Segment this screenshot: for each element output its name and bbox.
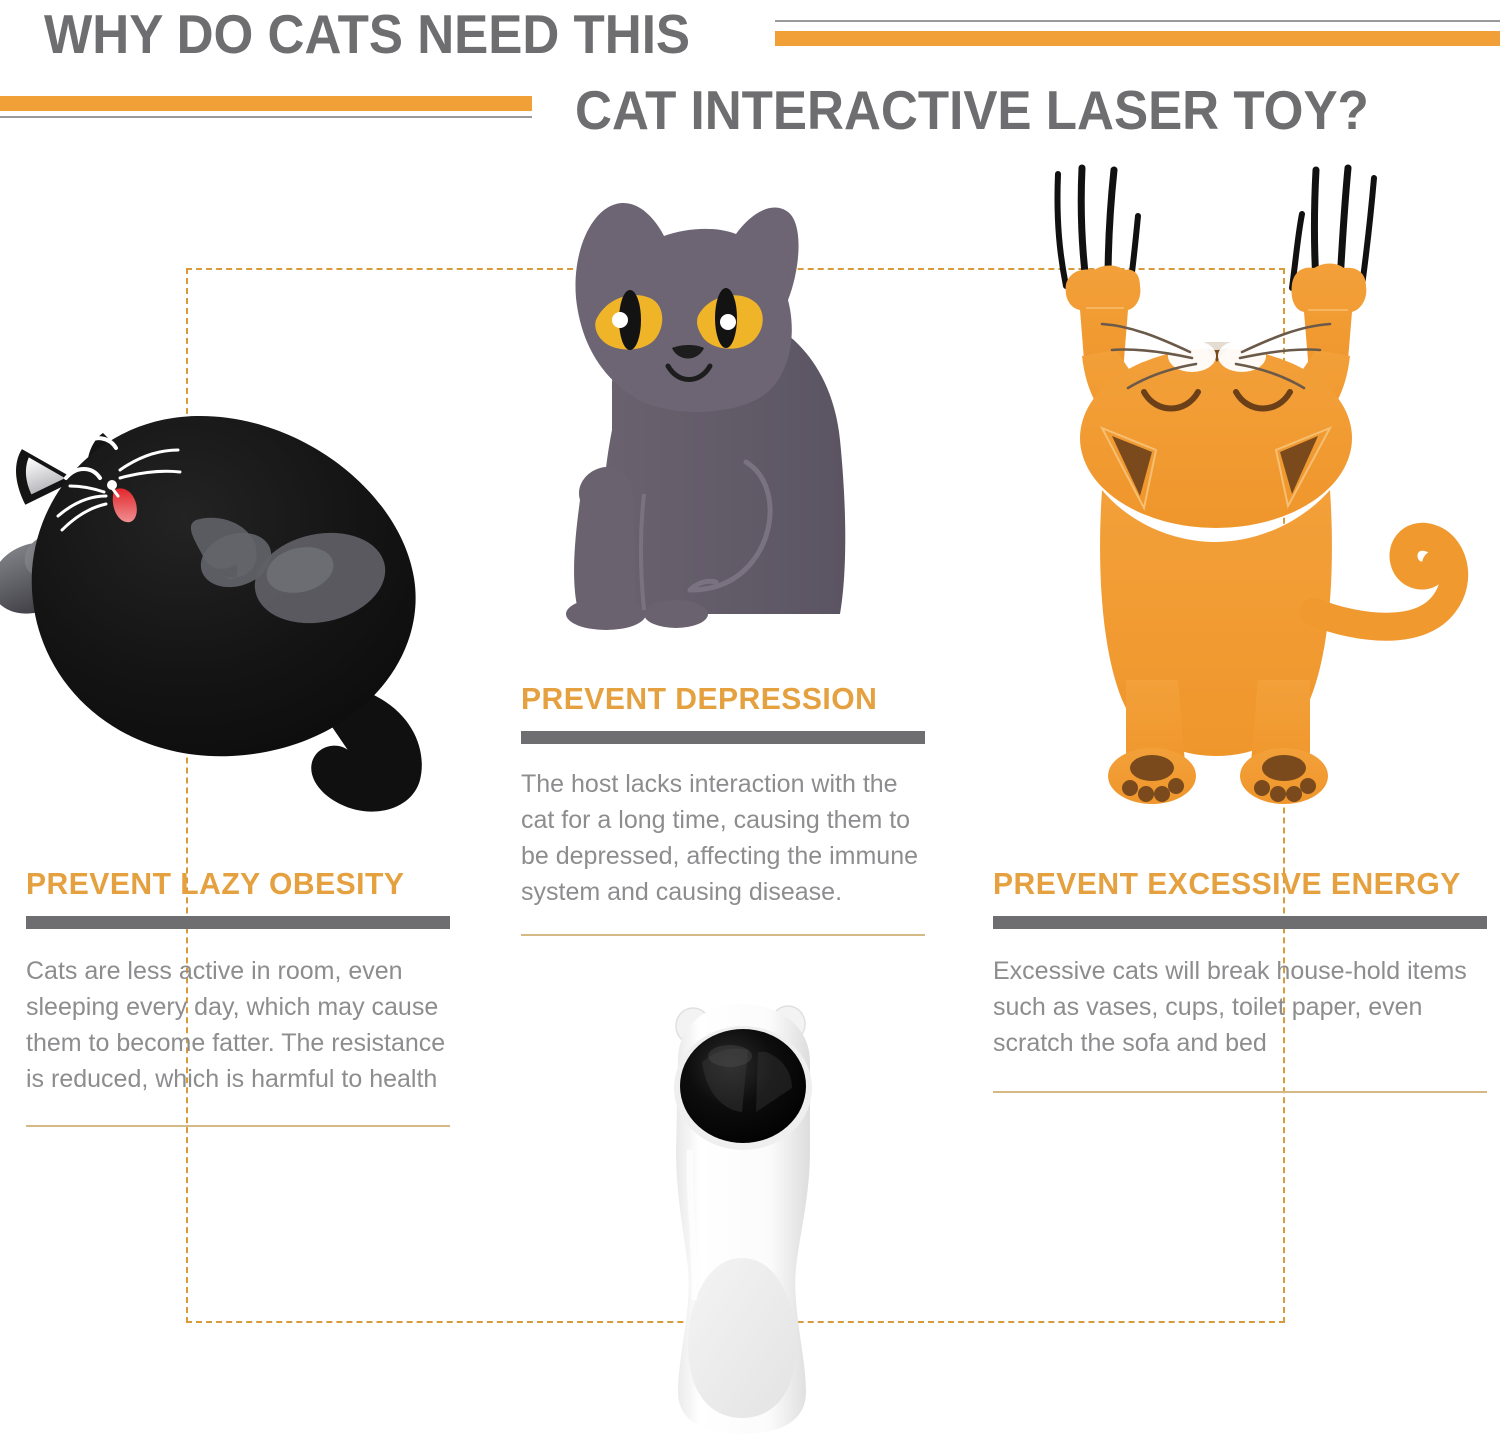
product-laser-toy [630,1000,880,1436]
section-heading-lazy-obesity: PREVENT LAZY OBESITY [26,866,437,902]
header-rule-top-thin [775,20,1500,22]
section-heading-depression: PREVENT DEPRESSION [521,681,913,717]
section-body-lazy-obesity: Cats are less active in room, even sleep… [26,953,456,1097]
section-footer-rule [26,1125,450,1127]
section-body-depression: The host lacks interaction with the cat … [521,766,931,910]
section-heading-excessive-energy: PREVENT EXCESSIVE ENERGY [993,866,1472,902]
page-title-line-2: CAT INTERACTIVE LASER TOY? [575,78,1369,142]
section-heading-underline-bar [993,916,1487,929]
page-title-line-1: WHY DO CATS NEED THIS [44,2,690,66]
section-heading-underline-bar [521,731,925,744]
illustration-orange-scratching-cat [1020,160,1500,810]
section-body-excessive-energy: Excessive cats will break house-hold ite… [993,953,1493,1061]
header-rule-bottom-thin [0,116,532,118]
section-heading-underline-bar [26,916,450,929]
section-excessive-energy: PREVENT EXCESSIVE ENERGY Excessive cats … [993,866,1487,1093]
infographic-canvas: WHY DO CATS NEED THIS CAT INTERACTIVE LA… [0,0,1500,1436]
header-rule-bottom-thick [0,96,532,111]
section-depression: PREVENT DEPRESSION The host lacks intera… [521,681,925,936]
header-rule-top-thick [775,31,1500,46]
illustration-black-fat-cat [0,380,460,820]
illustration-gray-sad-cat [540,190,880,640]
section-lazy-obesity: PREVENT LAZY OBESITY Cats are less activ… [26,866,450,1127]
section-footer-rule [521,934,925,936]
section-footer-rule [993,1091,1487,1093]
